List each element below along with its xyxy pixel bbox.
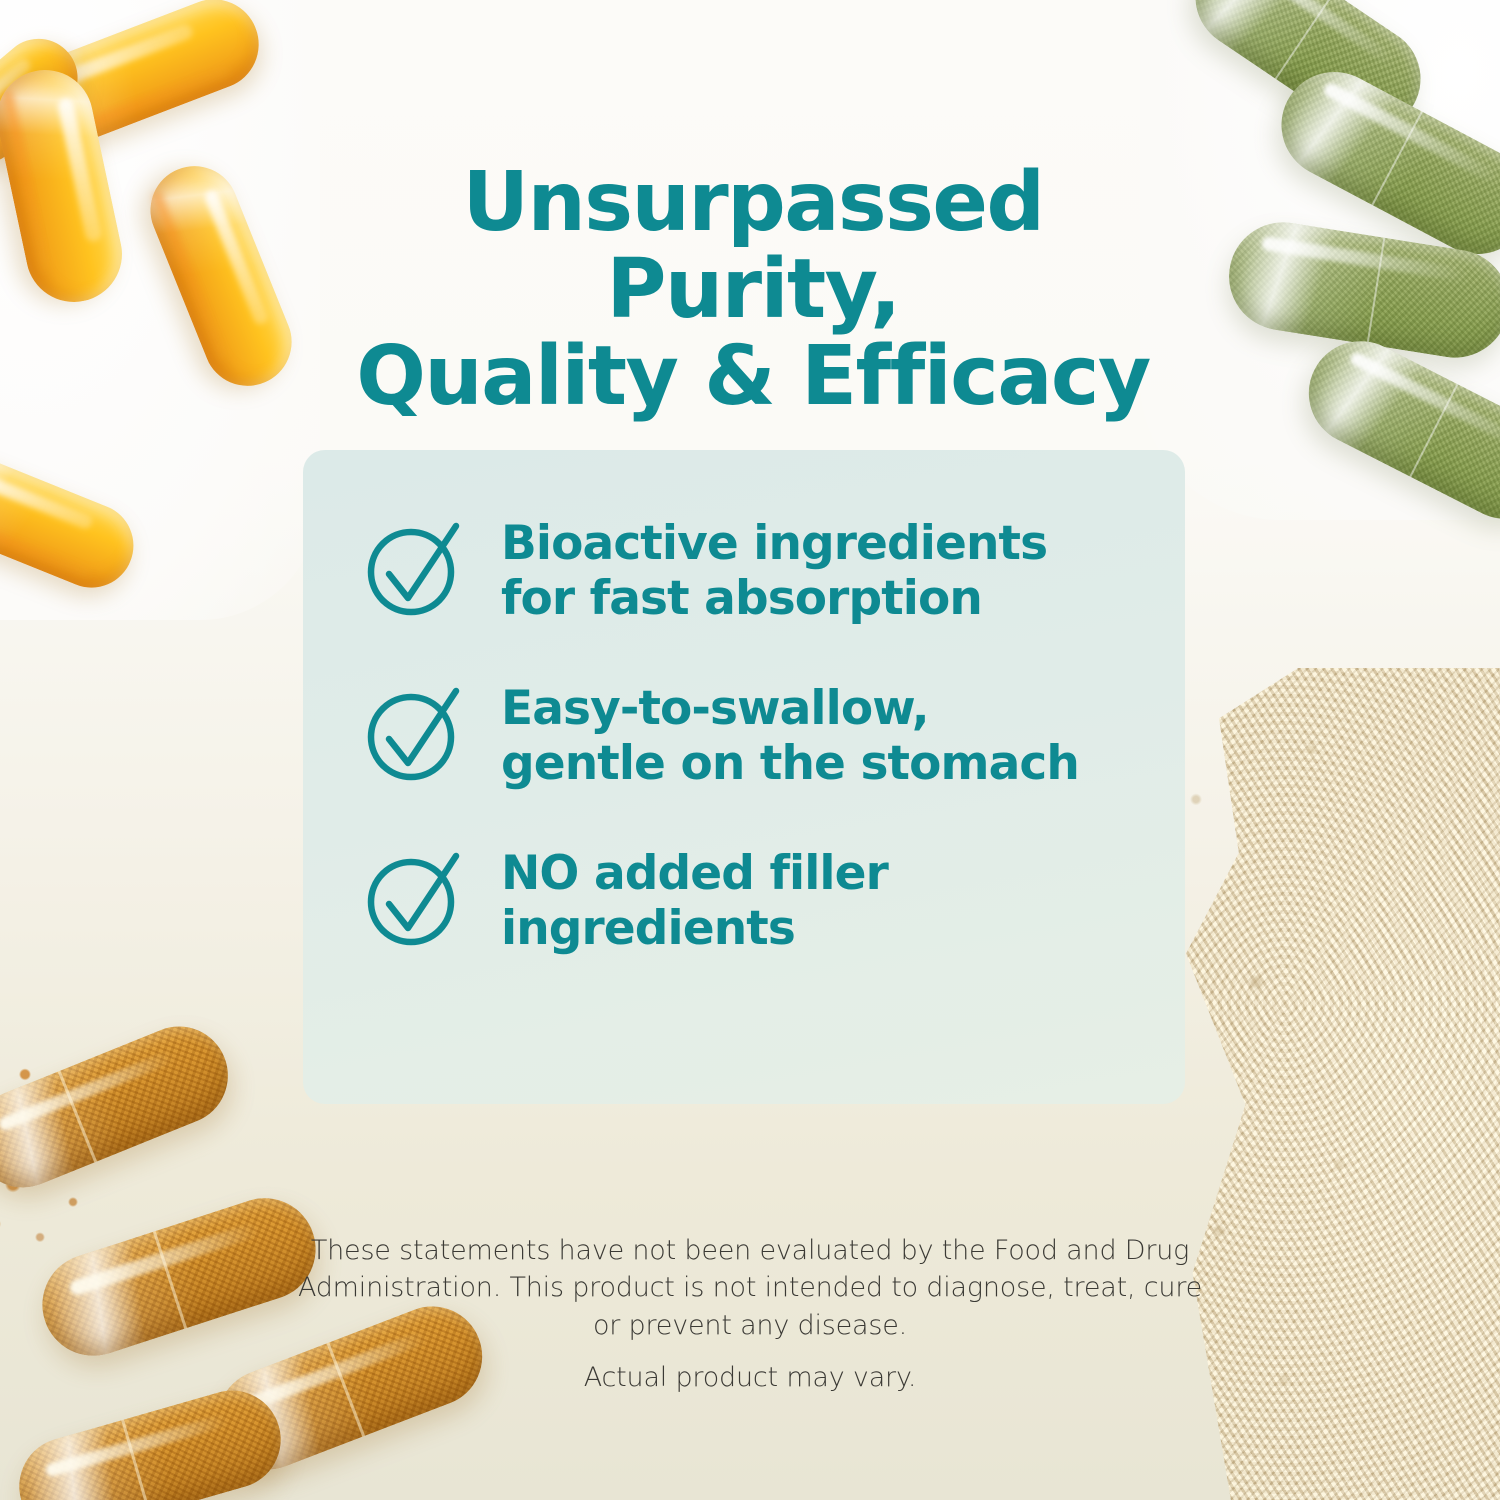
- product-variance-note: Actual product may vary.: [290, 1362, 1210, 1393]
- page-title: Unsurpassed Purity, Quality & Efficacy: [303, 160, 1203, 421]
- benefit-label-line-1: Bioactive ingredients: [501, 516, 1047, 571]
- page-title-line-2: Quality & Efficacy: [356, 329, 1150, 424]
- benefit-label: Bioactive ingredients for fast absorptio…: [501, 514, 1047, 627]
- check-circle-icon: [363, 846, 467, 950]
- benefits-card: Bioactive ingredients for fast absorptio…: [303, 450, 1185, 1104]
- page-title-line-1: Unsurpassed Purity,: [463, 155, 1044, 337]
- product-infographic: Unsurpassed Purity, Quality & Efficacy B…: [0, 0, 1500, 1500]
- benefit-item: NO added filler ingredients: [363, 844, 1125, 957]
- benefit-item: Bioactive ingredients for fast absorptio…: [363, 514, 1125, 627]
- check-circle-icon: [363, 516, 467, 620]
- benefit-label-line-2: gentle on the stomach: [501, 736, 1079, 791]
- benefit-item: Easy-to-swallow, gentle on the stomach: [363, 679, 1125, 792]
- benefit-label-line-2: for fast absorption: [501, 571, 982, 626]
- benefit-label-line-1: Easy-to-swallow,: [501, 681, 929, 736]
- benefit-label-line-1: NO added filler: [501, 846, 888, 901]
- benefit-label-line-2: ingredients: [501, 901, 795, 956]
- benefit-label: NO added filler ingredients: [501, 844, 888, 957]
- check-circle-icon: [363, 681, 467, 785]
- fda-disclaimer: These statements have not been evaluated…: [290, 1232, 1210, 1344]
- benefit-label: Easy-to-swallow, gentle on the stomach: [501, 679, 1079, 792]
